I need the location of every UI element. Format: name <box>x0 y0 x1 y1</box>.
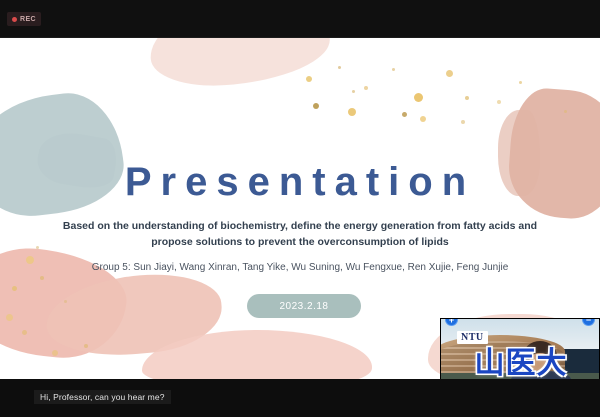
confetti-dot <box>519 81 522 84</box>
confetti-dot <box>352 90 355 93</box>
confetti-dot <box>52 350 58 356</box>
brush-stroke-bottom-center <box>142 330 372 379</box>
confetti-dot <box>364 86 368 90</box>
confetti-dot <box>40 276 44 280</box>
confetti-dot <box>414 93 423 102</box>
recording-badge[interactable]: REC <box>7 12 41 26</box>
confetti-dot <box>12 286 17 291</box>
confetti-dot <box>84 344 88 348</box>
slide-authors: Group 5: Sun Jiayi, Wang Xinran, Tang Yi… <box>50 262 550 273</box>
record-dot-icon <box>12 17 17 22</box>
brush-stroke-bottom-left <box>0 242 131 364</box>
confetti-dot <box>564 110 567 113</box>
confetti-dot <box>420 116 426 122</box>
slide-date-badge: 2023.2.18 <box>247 294 361 318</box>
confetti-dot <box>36 246 39 249</box>
caption-bar: Hi, Professor, can you hear me? <box>0 379 600 417</box>
confetti-dot <box>348 108 356 116</box>
video-watermark-text: 山医大 <box>441 347 600 381</box>
slide-subtitle: Based on the understanding of biochemist… <box>60 218 540 250</box>
caption-text: Hi, Professor, can you hear me? <box>34 390 171 404</box>
brush-stroke-bottom-left-2 <box>43 268 225 361</box>
recording-badge-label: REC <box>20 16 36 23</box>
confetti-dot <box>402 112 407 117</box>
confetti-dot <box>465 96 469 100</box>
recording-topbar: REC <box>0 0 600 38</box>
confetti-dot <box>497 100 501 104</box>
confetti-dot <box>6 314 13 321</box>
ntu-logo: NTU <box>457 331 488 344</box>
confetti-dot <box>306 76 312 82</box>
slide-title: Presentation <box>0 160 600 205</box>
confetti-dot <box>392 68 395 71</box>
confetti-dot <box>338 66 341 69</box>
confetti-dot <box>26 256 34 264</box>
brush-stroke-top-center <box>147 38 332 90</box>
confetti-dot <box>22 330 27 335</box>
confetti-dot <box>313 103 319 109</box>
confetti-dot <box>446 70 453 77</box>
confetti-dot <box>64 300 67 303</box>
video-conference-screen: REC Presentation Based on the understand… <box>0 0 600 417</box>
confetti-dot <box>461 120 465 124</box>
